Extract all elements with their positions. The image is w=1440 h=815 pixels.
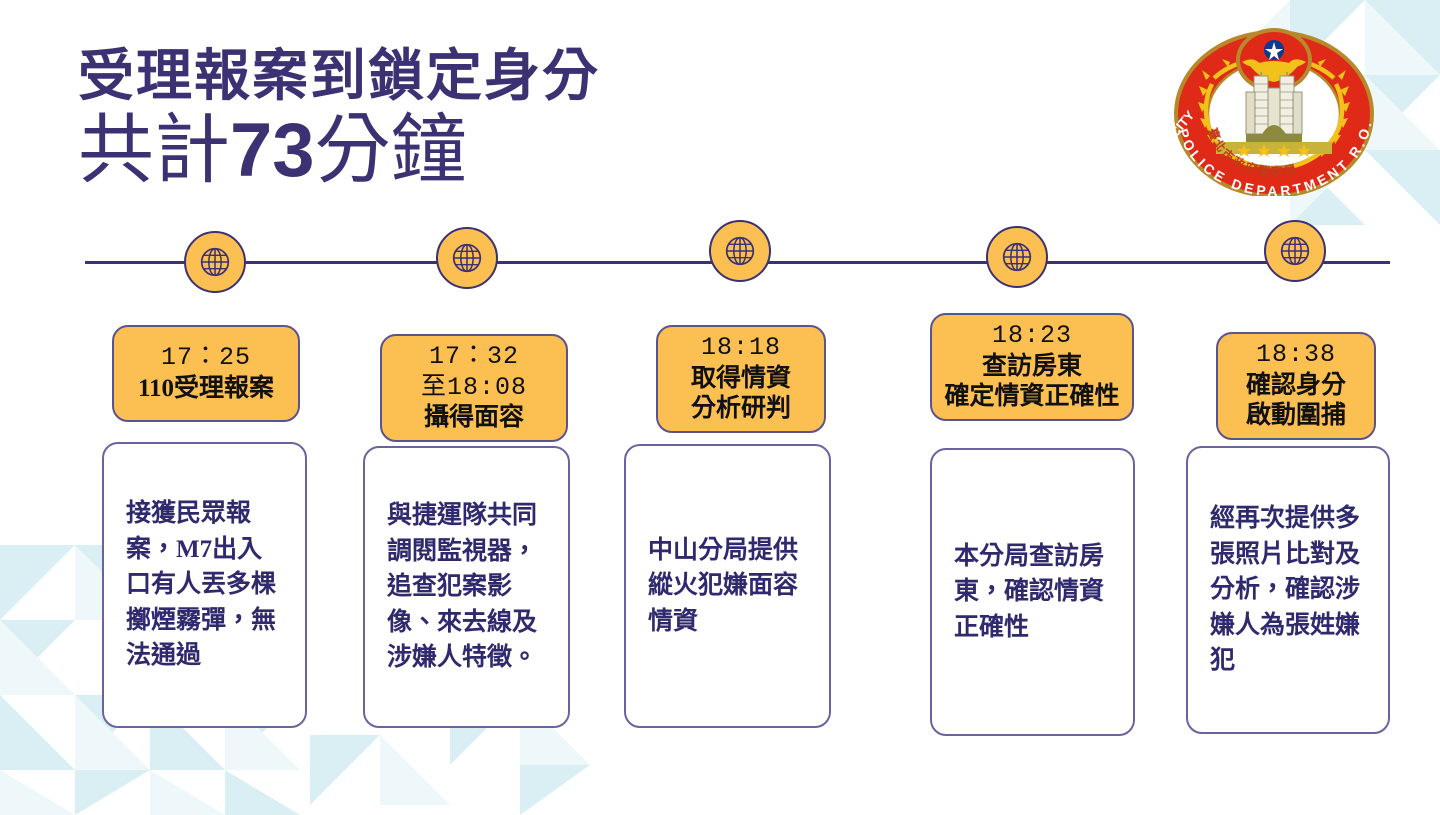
timeline-node-4[interactable] bbox=[986, 226, 1048, 288]
page-title-line1: 受理報案到鎖定身分 bbox=[78, 46, 600, 109]
title-suffix: 分鐘 bbox=[315, 109, 467, 193]
timeline-node-3[interactable] bbox=[709, 220, 771, 282]
chip-time-extra-2: 至18:08 bbox=[421, 373, 527, 404]
time-chip-3[interactable]: 18:18 取得情資 分析研判 bbox=[656, 325, 826, 433]
detail-card-5: 經再次提供多張照片比對及分析，確認涉嫌人為張姓嫌犯 bbox=[1186, 446, 1390, 734]
detail-card-3: 中山分局提供縱火犯嫌面容情資 bbox=[624, 444, 831, 728]
globe-icon bbox=[721, 232, 759, 270]
chip-heading2-3: 分析研判 bbox=[691, 394, 791, 425]
globe-icon bbox=[998, 238, 1036, 276]
chip-time-5: 18:38 bbox=[1256, 340, 1336, 371]
title-prefix: 共計 bbox=[78, 109, 230, 193]
chip-heading-3: 取得情資 bbox=[691, 364, 791, 395]
police-emblem: POLICE DEPARTMENT R.O.C. 臺北市政府警察局 TAIPEI… bbox=[1150, 18, 1398, 196]
chip-heading2-5: 啟動圍捕 bbox=[1246, 401, 1346, 432]
detail-card-2: 與捷運隊共同調閱監視器，追查犯案影像、來去線及涉嫌人特徵。 bbox=[363, 446, 570, 728]
globe-icon bbox=[196, 243, 234, 281]
detail-card-4: 本分局查訪房東，確認情資正確性 bbox=[930, 448, 1135, 736]
globe-icon bbox=[448, 239, 486, 277]
chip-heading-4: 查訪房東 bbox=[982, 352, 1082, 383]
detail-text-3: 中山分局提供縱火犯嫌面容情資 bbox=[626, 533, 829, 640]
detail-text-2: 與捷運隊共同調閱監視器，追查犯案影像、來去線及涉嫌人特徵。 bbox=[365, 498, 568, 676]
time-chip-1[interactable]: 17：25 110受理報案 bbox=[112, 325, 300, 422]
chip-time-3: 18:18 bbox=[701, 333, 781, 364]
timeline-node-2[interactable] bbox=[436, 227, 498, 289]
chip-time-1: 17：25 bbox=[161, 343, 251, 374]
chip-heading2-4: 確定情資正確性 bbox=[944, 382, 1119, 413]
chip-time-2: 17：32 bbox=[429, 342, 519, 373]
chip-heading-5: 確認身分 bbox=[1246, 371, 1346, 402]
page-title-line2: 共計73分鐘 bbox=[78, 111, 600, 192]
chip-heading-1: 110受理報案 bbox=[138, 374, 274, 405]
timeline-node-1[interactable] bbox=[184, 231, 246, 293]
slide-root: POLICE DEPARTMENT R.O.C. 臺北市政府警察局 TAIPEI… bbox=[0, 0, 1440, 815]
detail-text-1: 接獲民眾報案，M7出入口有人丟多棵擲煙霧彈，無法通過 bbox=[104, 496, 305, 674]
detail-text-5: 經再次提供多張照片比對及分析，確認涉嫌人為張姓嫌犯 bbox=[1188, 501, 1388, 679]
timeline-node-5[interactable] bbox=[1264, 220, 1326, 282]
chip-heading-2: 攝得面容 bbox=[424, 403, 524, 434]
title-total-minutes: 73 bbox=[230, 108, 315, 193]
detail-card-1: 接獲民眾報案，M7出入口有人丟多棵擲煙霧彈，無法通過 bbox=[102, 442, 307, 728]
time-chip-2[interactable]: 17：32 至18:08 攝得面容 bbox=[380, 334, 568, 442]
detail-text-4: 本分局查訪房東，確認情資正確性 bbox=[932, 539, 1133, 646]
time-chip-4[interactable]: 18:23 查訪房東 確定情資正確性 bbox=[930, 313, 1134, 421]
time-chip-5[interactable]: 18:38 確認身分 啟動圍捕 bbox=[1216, 332, 1376, 440]
slide-title-block: 受理報案到鎖定身分 共計73分鐘 bbox=[78, 46, 600, 192]
chip-time-4: 18:23 bbox=[992, 321, 1072, 352]
globe-icon bbox=[1276, 232, 1314, 270]
